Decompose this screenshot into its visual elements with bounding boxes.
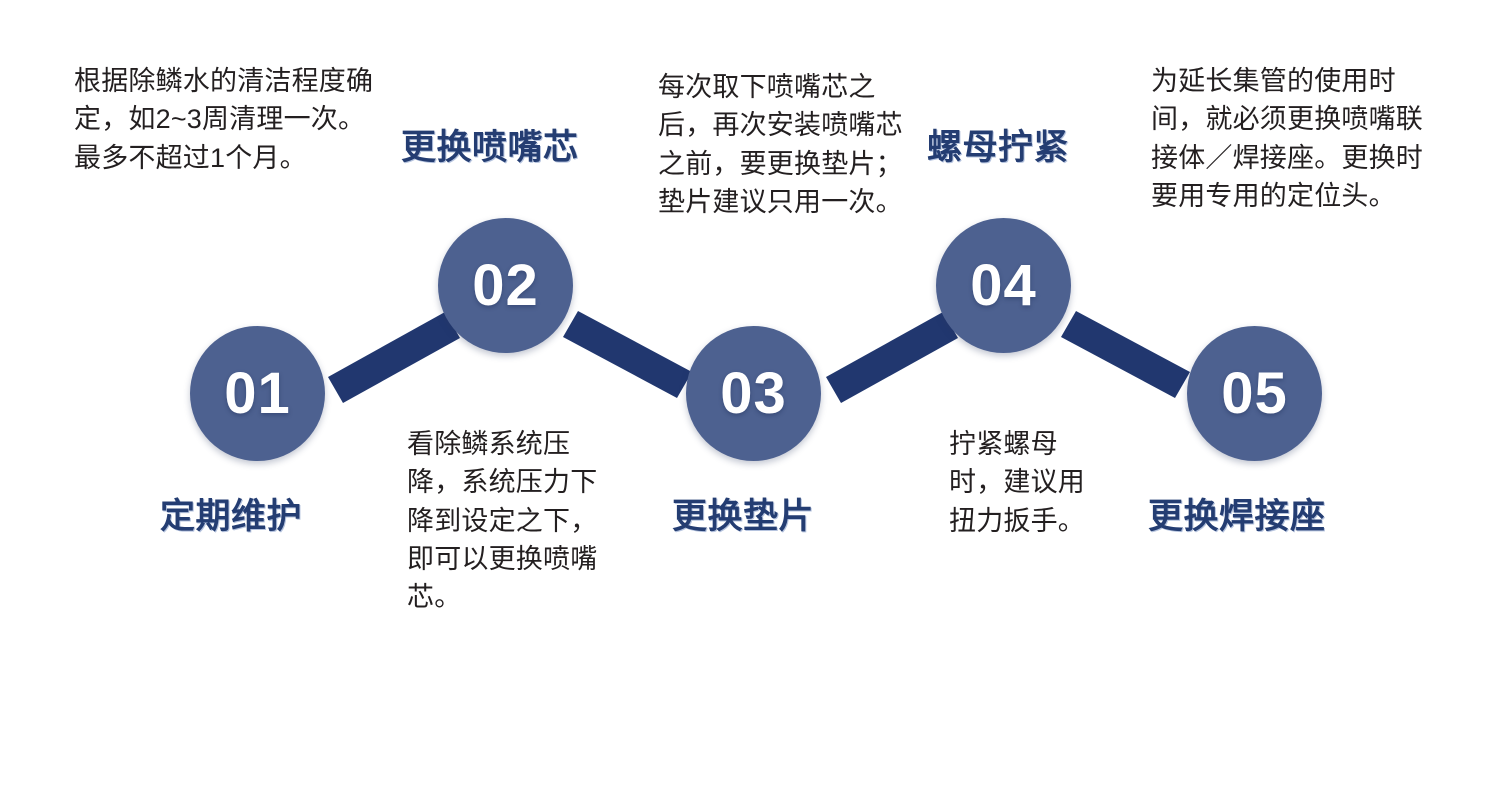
step-heading-01: 定期维护 bbox=[160, 497, 302, 538]
step-heading-05: 更换焊接座 bbox=[1148, 497, 1326, 538]
step-body-01: 根据除鳞水的清洁程度确定，如2~3周清理一次。最多不超过1个月。 bbox=[74, 62, 392, 177]
step-heading-02: 更换喷嘴芯 bbox=[401, 128, 579, 169]
process-diagram-canvas: 01 02 03 04 05 根据除鳞水的清洁程度确定，如2~3周清理一次。最多… bbox=[0, 0, 1501, 807]
step-node-03[interactable]: 03 bbox=[686, 326, 821, 461]
connector-bar-01-02 bbox=[328, 312, 460, 403]
step-node-01[interactable]: 01 bbox=[190, 326, 325, 461]
step-number-02: 02 bbox=[472, 257, 539, 315]
step-number-03: 03 bbox=[720, 365, 787, 423]
step-node-04[interactable]: 04 bbox=[936, 218, 1071, 353]
connector-bar-03-04 bbox=[826, 312, 958, 403]
step-node-05[interactable]: 05 bbox=[1187, 326, 1322, 461]
step-body-03: 每次取下喷嘴芯之后，再次安装喷嘴芯之前，要更换垫片；垫片建议只用一次。 bbox=[658, 68, 904, 221]
step-number-05: 05 bbox=[1221, 365, 1288, 423]
connector-bar-04-05 bbox=[1061, 311, 1190, 398]
step-heading-04: 螺母拧紧 bbox=[927, 128, 1069, 169]
step-body-04: 拧紧螺母时，建议用扭力扳手。 bbox=[949, 425, 1091, 540]
step-number-01: 01 bbox=[224, 365, 291, 423]
connector-bar-02-03 bbox=[563, 311, 692, 398]
step-number-04: 04 bbox=[970, 257, 1037, 315]
step-body-05: 为延长集管的使用时间，就必须更换喷嘴联接体／焊接座。更换时要用专用的定位头。 bbox=[1151, 62, 1429, 215]
step-heading-03: 更换垫片 bbox=[672, 497, 814, 538]
step-node-02[interactable]: 02 bbox=[438, 218, 573, 353]
step-body-02: 看除鳞系统压降，系统压力下降到设定之下，即可以更换喷嘴芯。 bbox=[407, 425, 619, 617]
